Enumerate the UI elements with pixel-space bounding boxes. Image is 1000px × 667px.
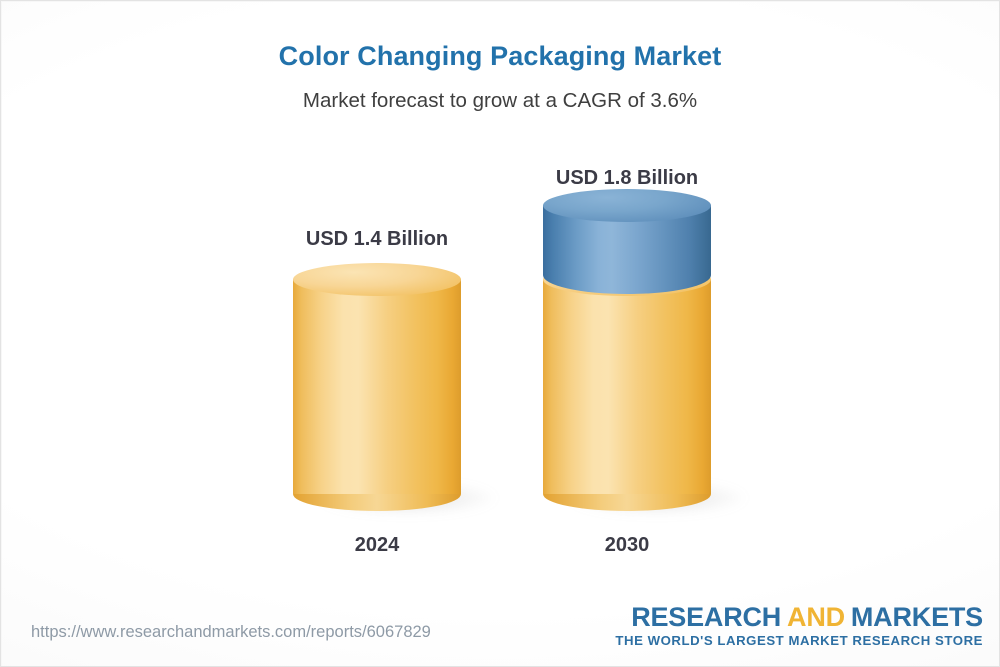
bar-chart: USD 1.4 Billion 2024 USD 1.8 Billion <box>1 1 1000 667</box>
cylinder-wall-base-2030 <box>543 279 711 494</box>
bar-category-label-2030: 2030 <box>527 534 727 557</box>
bar-segment-growth-2030 <box>543 189 711 294</box>
cylinder-top-cap-2030 <box>543 189 711 222</box>
cylinder-wall-2024 <box>293 279 461 494</box>
research-and-markets-logo[interactable]: RESEARCHANDMARKETS THE WORLD'S LARGEST M… <box>615 602 983 649</box>
logo-word-markets: MARKETS <box>851 602 983 632</box>
infographic-canvas: Color Changing Packaging Market Market f… <box>0 0 1000 667</box>
bar-segment-base-2024 <box>293 263 461 511</box>
bar-category-label-2024: 2024 <box>277 534 477 557</box>
report-url[interactable]: https://www.researchandmarkets.com/repor… <box>31 623 431 642</box>
bar-value-label-2024: USD 1.4 Billion <box>277 228 477 251</box>
bar-segment-base-2030 <box>543 263 711 511</box>
logo-wordmark: RESEARCHANDMARKETS <box>615 602 983 632</box>
logo-word-and: AND <box>787 602 845 632</box>
logo-word-research: RESEARCH <box>631 602 781 632</box>
bar-cylinder-2030[interactable] <box>543 189 711 521</box>
bar-cylinder-2024[interactable] <box>293 263 461 521</box>
logo-tagline: THE WORLD'S LARGEST MARKET RESEARCH STOR… <box>615 633 983 649</box>
cylinder-top-cap-2024 <box>293 263 461 296</box>
bar-value-label-2030: USD 1.8 Billion <box>527 167 727 190</box>
